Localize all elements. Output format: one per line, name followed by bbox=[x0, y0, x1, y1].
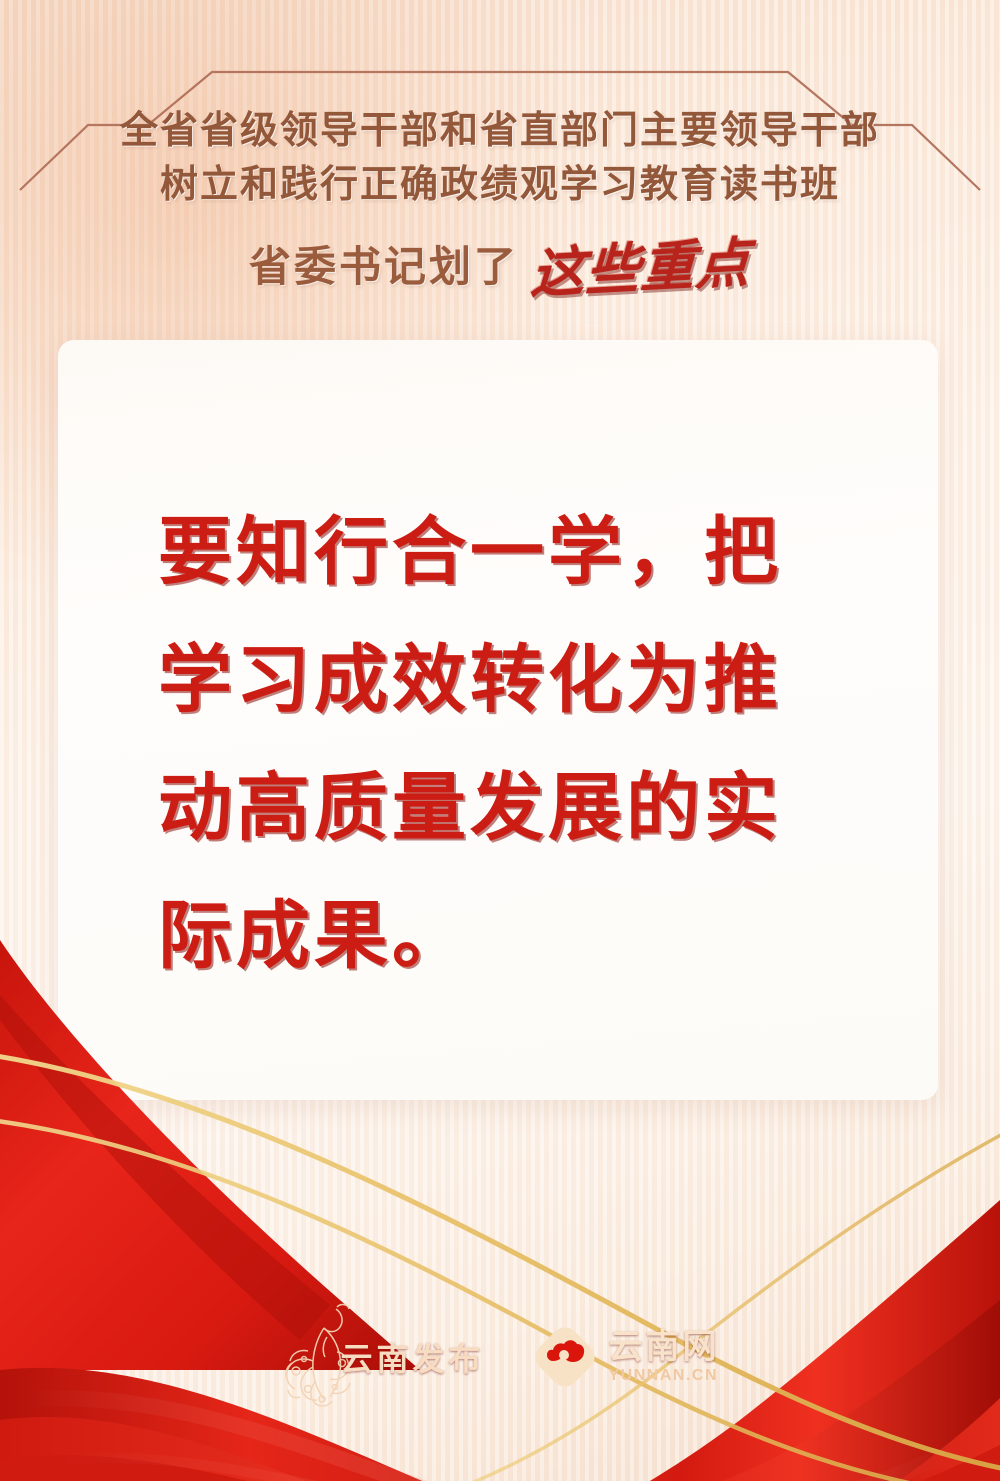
logo-yunnan-fabu[interactable]: 云南发布 bbox=[280, 1301, 484, 1413]
page-title-line-2: 树立和践行正确政绩观学习教育读书班 bbox=[0, 158, 1000, 212]
logo-yunnan-wang[interactable]: 云南网 YUNNAN.CN bbox=[533, 1325, 720, 1389]
footer-logos: 云南发布 云南网 YUNNAN.CN bbox=[0, 1292, 1000, 1422]
quote-line: 要知行合一学，把 bbox=[158, 488, 858, 616]
subtitle-plain-text: 省委书记划了 bbox=[249, 233, 519, 294]
header-subtitle-row: 省委书记划了 这些重点 bbox=[0, 224, 1000, 303]
subtitle-brush-text: 这些重点 bbox=[521, 218, 753, 309]
quote-line: 学习成效转化为推 bbox=[158, 616, 858, 744]
poster-root: 全省省级领导干部和省直部门主要领导干部 树立和践行正确政绩观学习教育读书班 省委… bbox=[0, 0, 1000, 1481]
logo-yunnan-wang-words: 云南网 YUNNAN.CN bbox=[609, 1330, 720, 1384]
header-title-block: 全省省级领导干部和省直部门主要领导干部 树立和践行正确政绩观学习教育读书班 bbox=[0, 104, 1000, 212]
poster-header: 全省省级领导干部和省直部门主要领导干部 树立和践行正确政绩观学习教育读书班 省委… bbox=[0, 0, 1000, 320]
page-title-line-1: 全省省级领导干部和省直部门主要领导干部 bbox=[0, 104, 1000, 158]
quote-line: 动高质量发展的实 bbox=[158, 744, 858, 872]
cloud-diamond-icon bbox=[533, 1325, 597, 1389]
logo-yunnan-wang-label: 云南网 bbox=[609, 1330, 720, 1364]
logo-yunnan-fabu-label: 云南发布 bbox=[340, 1334, 484, 1380]
logo-yunnan-wang-sublabel: YUNNAN.CN bbox=[609, 1368, 720, 1384]
